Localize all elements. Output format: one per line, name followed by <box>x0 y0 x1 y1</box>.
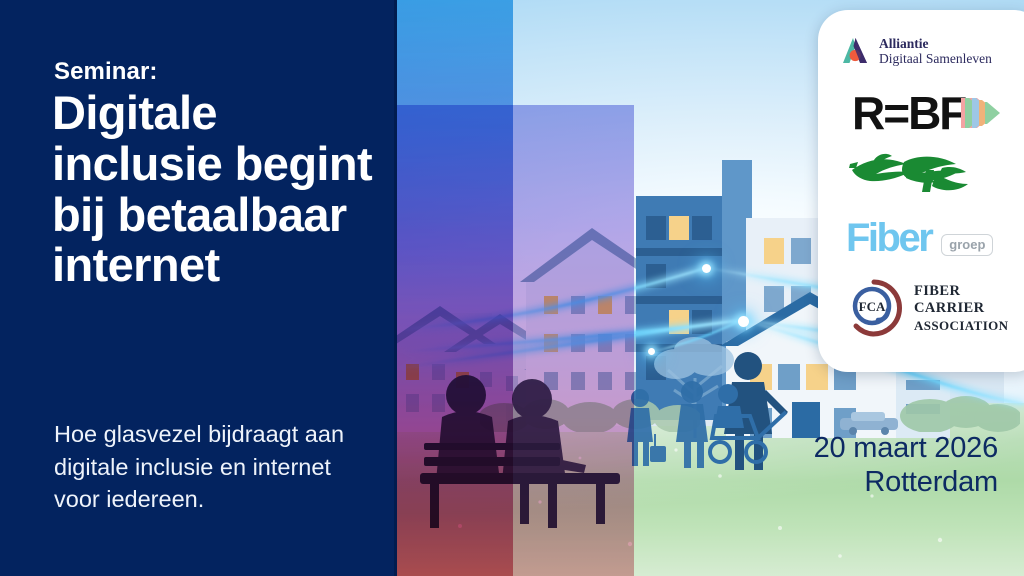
alliantie-line1: Alliantie <box>879 36 992 51</box>
logo-alliantie-digitaal-samenleven: Alliantie Digitaal Samenleven <box>840 36 992 66</box>
fca-line2: CARRIER <box>914 300 1008 317</box>
page-title: Digitale inclusie begint bij betaalbaar … <box>52 88 382 291</box>
striped-arrow-icon <box>959 96 1005 130</box>
alliantie-line2: Digitaal Samenleven <box>879 51 992 66</box>
seminar-banner-slide: Seminar: Digitale inclusie begint bij be… <box>0 0 1024 576</box>
fiber-node-2 <box>738 316 749 327</box>
event-details: 20 maart 2026 Rotterdam <box>730 432 998 499</box>
panel-edge <box>394 0 397 576</box>
logo-rebf: R=BF <box>852 90 1005 136</box>
fiber-node-1 <box>702 264 711 273</box>
event-location: Rotterdam <box>730 466 998 500</box>
eyebrow-label: Seminar: <box>54 58 158 86</box>
fca-line1: FIBER <box>914 283 1008 300</box>
svg-text:FCA: FCA <box>859 299 886 314</box>
rebf-wordmark: R=BF <box>852 90 965 136</box>
fca-circle-icon: FCA <box>844 278 904 338</box>
subtitle-text: Hoe glasvezel bijdraagt aan digitale inc… <box>54 418 374 516</box>
fca-line3: ASSOCIATION <box>914 318 1008 334</box>
event-date: 20 maart 2026 <box>730 432 998 466</box>
logo-fiber-carrier-association: FCA FIBER CARRIER ASSOCIATION <box>844 278 1008 338</box>
partner-logos-card: Alliantie Digitaal Samenleven R=BF <box>818 10 1024 372</box>
logo-fiber-groep: Fiber groep <box>846 218 993 258</box>
alliantie-wordmark: Alliantie Digitaal Samenleven <box>879 36 992 66</box>
green-leaf-ornament-icon <box>848 150 982 203</box>
logo-green-ornament <box>848 150 982 203</box>
triangle-a-mark-icon <box>840 36 870 66</box>
fiber-groep-badge: groep <box>941 234 993 256</box>
fca-wordmark: FIBER CARRIER ASSOCIATION <box>914 283 1008 333</box>
fiber-wordmark-icon: Fiber <box>846 218 931 258</box>
